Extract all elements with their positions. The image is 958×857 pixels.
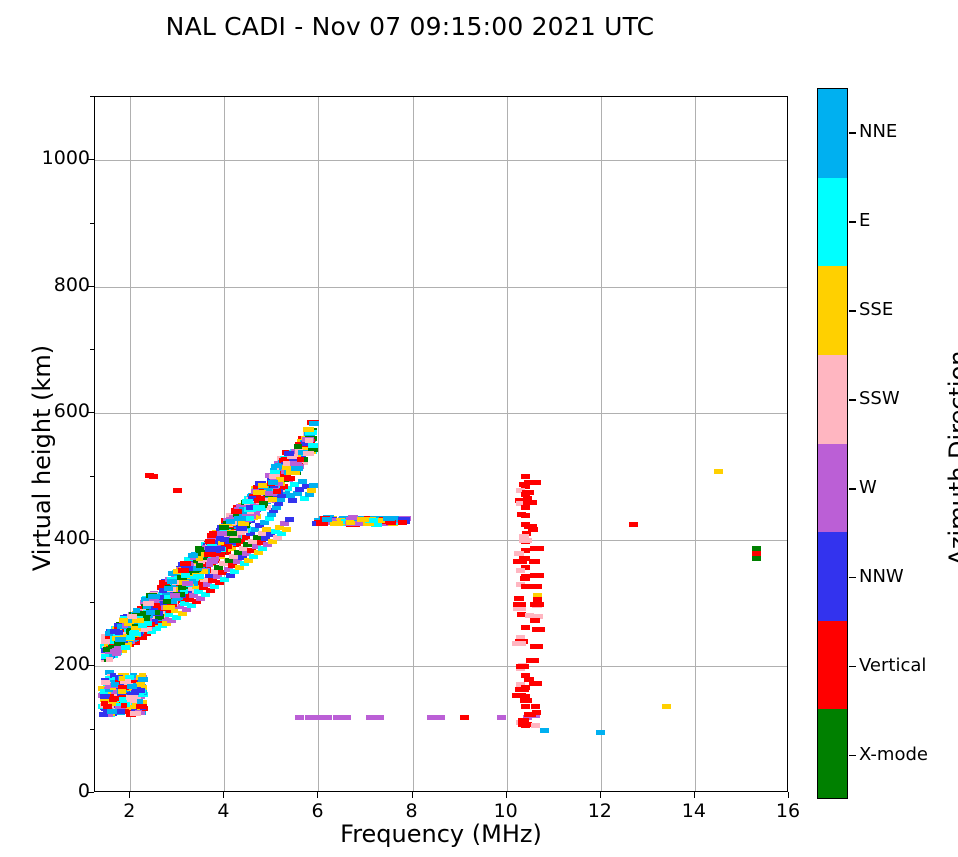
data-mark — [427, 715, 436, 720]
data-mark — [520, 576, 530, 581]
x-axis-tick-label: 10 — [476, 800, 536, 822]
data-mark — [253, 490, 264, 495]
data-mark — [126, 695, 136, 700]
data-mark — [514, 596, 524, 601]
data-mark — [130, 711, 141, 716]
x-axis-tick-label: 2 — [99, 800, 159, 822]
data-mark — [532, 627, 545, 632]
x-axis-tick-label: 16 — [758, 800, 818, 822]
colorbar-segment-vertical[interactable] — [818, 621, 847, 710]
data-mark — [149, 474, 158, 479]
data-mark — [309, 421, 319, 426]
data-mark — [148, 594, 160, 599]
data-mark — [288, 498, 297, 503]
data-mark — [516, 568, 525, 573]
colorbar-segment-ssw[interactable] — [818, 355, 847, 444]
data-mark — [163, 605, 175, 610]
data-mark — [204, 552, 216, 557]
data-mark — [460, 715, 469, 720]
data-mark — [524, 677, 534, 682]
data-mark — [524, 524, 537, 529]
data-mark — [530, 546, 544, 551]
data-mark — [268, 497, 277, 502]
data-mark — [119, 697, 126, 702]
colorbar[interactable] — [817, 88, 848, 799]
data-mark — [366, 715, 375, 720]
data-mark — [121, 645, 130, 650]
data-mark — [323, 715, 332, 720]
data-mark — [305, 438, 313, 443]
data-mark — [531, 704, 540, 709]
data-mark — [178, 585, 186, 590]
colorbar-label-sse: SSE — [859, 299, 893, 320]
x-axis-tick — [788, 792, 789, 798]
colorbar-tick — [849, 399, 856, 401]
data-mark — [291, 466, 303, 471]
data-mark — [375, 715, 384, 720]
data-mark — [294, 444, 302, 449]
data-mark — [236, 526, 247, 531]
data-mark — [752, 556, 761, 561]
colorbar-label-w: W — [859, 477, 877, 498]
gridline-horizontal — [95, 160, 787, 161]
data-mark — [213, 546, 225, 551]
data-mark — [173, 488, 182, 493]
data-mark — [101, 639, 110, 644]
colorbar-segment-e[interactable] — [818, 178, 847, 267]
data-mark — [519, 538, 532, 543]
colorbar-tick — [849, 666, 856, 668]
data-mark — [242, 499, 253, 504]
data-mark — [253, 505, 265, 510]
data-mark — [146, 610, 155, 615]
data-mark — [101, 701, 108, 706]
data-mark — [521, 474, 530, 479]
colorbar-segment-x-mode[interactable] — [818, 709, 847, 798]
gridline-horizontal — [95, 287, 787, 288]
data-mark — [121, 703, 127, 708]
data-mark — [273, 489, 281, 494]
data-mark — [530, 602, 544, 607]
colorbar-tick — [849, 577, 856, 579]
data-mark — [231, 509, 242, 514]
x-axis-tick — [412, 792, 413, 798]
data-mark — [528, 584, 542, 589]
data-mark — [285, 517, 294, 522]
data-mark — [284, 451, 294, 456]
data-mark — [136, 704, 147, 709]
data-mark — [540, 728, 549, 733]
data-mark — [193, 574, 204, 579]
colorbar-segment-sse[interactable] — [818, 266, 847, 355]
data-mark — [309, 483, 318, 488]
x-axis-tick-label: 14 — [664, 800, 724, 822]
colorbar-label-e: E — [859, 210, 870, 231]
data-mark — [357, 517, 369, 522]
data-mark — [196, 563, 203, 568]
data-mark — [138, 623, 147, 628]
data-mark — [178, 568, 189, 573]
gridline-horizontal — [95, 666, 787, 667]
data-mark — [305, 715, 314, 720]
data-mark — [342, 715, 351, 720]
data-mark — [107, 709, 117, 714]
gridline-horizontal — [95, 540, 787, 541]
data-mark — [512, 641, 526, 646]
gridline-vertical — [601, 97, 602, 791]
data-mark — [109, 697, 117, 702]
x-axis-tick — [506, 792, 507, 798]
plot-area — [94, 96, 788, 792]
data-mark — [229, 538, 241, 543]
data-mark — [130, 630, 139, 635]
data-mark — [303, 427, 314, 432]
data-mark — [227, 531, 237, 536]
data-mark — [216, 536, 224, 541]
x-axis-tick-label: 8 — [382, 800, 442, 822]
data-mark — [119, 618, 128, 623]
data-mark — [188, 553, 198, 558]
data-mark — [103, 647, 110, 652]
data-mark — [170, 593, 180, 598]
x-axis-tick — [129, 792, 130, 798]
data-mark — [330, 521, 343, 526]
data-mark — [138, 677, 148, 682]
data-mark — [314, 715, 323, 720]
data-mark — [529, 559, 540, 564]
data-mark — [520, 698, 532, 703]
data-mark — [629, 522, 638, 527]
data-mark — [383, 516, 395, 521]
data-mark — [163, 599, 171, 604]
colorbar-segment-w[interactable] — [818, 444, 847, 533]
data-mark — [530, 644, 543, 649]
data-mark — [256, 496, 265, 501]
x-axis-tick — [600, 792, 601, 798]
data-mark — [525, 613, 534, 618]
data-mark — [524, 712, 536, 717]
colorbar-segment-nne[interactable] — [818, 89, 847, 178]
data-mark — [307, 488, 316, 493]
data-mark — [526, 658, 539, 663]
data-mark — [181, 573, 190, 578]
data-mark — [497, 715, 506, 720]
data-mark — [316, 521, 328, 526]
data-mark — [519, 556, 529, 561]
data-mark — [517, 512, 526, 517]
data-mark — [322, 517, 332, 522]
y-axis-tick-label: 1000 — [0, 147, 90, 169]
data-mark — [308, 443, 318, 448]
data-mark — [205, 539, 215, 544]
data-mark — [284, 476, 295, 481]
data-mark — [127, 684, 137, 689]
y-axis-tick-label: 0 — [0, 780, 90, 802]
data-mark — [527, 480, 541, 485]
data-mark — [115, 637, 126, 642]
data-mark — [522, 490, 534, 495]
y-axis-tick-label: 800 — [0, 274, 90, 296]
data-mark — [295, 715, 304, 720]
y-axis-label: Virtual height (km) — [28, 298, 56, 618]
y-axis-minor-tick — [90, 729, 94, 730]
data-mark — [521, 505, 530, 510]
y-axis-minor-tick — [90, 349, 94, 350]
x-axis-tick — [223, 792, 224, 798]
data-mark — [268, 480, 278, 485]
data-mark — [137, 688, 145, 693]
data-mark — [530, 573, 544, 578]
colorbar-label-vertical: Vertical — [859, 655, 926, 676]
gridline-vertical — [318, 97, 319, 791]
gridline-vertical — [413, 97, 414, 791]
data-mark — [138, 692, 144, 697]
data-mark — [246, 516, 254, 521]
colorbar-title: Azimuth Direction — [944, 308, 958, 608]
data-mark — [297, 457, 304, 462]
x-axis-tick — [317, 792, 318, 798]
y-axis-minor-tick — [90, 476, 94, 477]
data-mark — [531, 723, 540, 728]
data-mark — [206, 562, 213, 567]
data-mark — [516, 664, 529, 669]
colorbar-label-x-mode: X-mode — [859, 744, 928, 765]
data-mark — [118, 689, 126, 694]
gridline-vertical — [695, 97, 696, 791]
x-axis-tick-label: 4 — [193, 800, 253, 822]
gridline-vertical — [224, 97, 225, 791]
gridline-horizontal — [95, 413, 787, 414]
data-mark — [282, 527, 291, 532]
data-mark — [164, 586, 173, 591]
data-mark — [596, 730, 605, 735]
data-mark — [143, 601, 154, 606]
ionogram-figure: NAL CADI - Nov 07 09:15:00 2021 UTC 2468… — [0, 0, 958, 857]
data-mark — [303, 451, 314, 456]
y-axis-tick-label: 200 — [0, 653, 90, 675]
data-mark — [436, 715, 445, 720]
colorbar-label-nnw: NNW — [859, 566, 904, 587]
colorbar-segment-nnw[interactable] — [818, 532, 847, 621]
colorbar-tick — [849, 310, 856, 312]
x-axis-tick-label: 12 — [570, 800, 630, 822]
x-axis-label: Frequency (MHz) — [94, 820, 788, 848]
colorbar-label-nne: NNE — [859, 121, 897, 142]
data-mark — [518, 722, 532, 727]
data-mark — [136, 682, 145, 687]
data-mark — [106, 657, 113, 662]
colorbar-tick — [849, 132, 856, 134]
data-mark — [398, 520, 407, 525]
data-mark — [333, 715, 342, 720]
data-mark — [515, 687, 529, 692]
data-mark — [530, 618, 540, 623]
data-mark — [512, 693, 526, 698]
y-axis-minor-tick — [90, 96, 94, 97]
colorbar-tick — [849, 221, 856, 223]
colorbar-tick — [849, 755, 856, 757]
data-mark — [662, 704, 671, 709]
data-mark — [129, 614, 137, 619]
data-mark — [205, 546, 213, 551]
data-mark — [523, 500, 537, 505]
data-mark — [167, 579, 177, 584]
data-mark — [714, 469, 723, 474]
colorbar-tick — [849, 488, 856, 490]
data-mark — [119, 676, 125, 681]
data-mark — [126, 635, 135, 640]
page-title: NAL CADI - Nov 07 09:15:00 2021 UTC — [0, 12, 820, 41]
y-axis-minor-tick — [90, 223, 94, 224]
x-axis-tick-label: 6 — [287, 800, 347, 822]
data-mark — [101, 680, 110, 685]
data-mark — [185, 581, 192, 586]
data-mark — [513, 602, 526, 607]
data-mark — [521, 625, 530, 630]
y-axis-minor-tick — [90, 602, 94, 603]
x-axis-tick — [694, 792, 695, 798]
gridline-vertical — [507, 97, 508, 791]
colorbar-label-ssw: SSW — [859, 388, 900, 409]
data-mark — [115, 630, 123, 635]
data-mark — [521, 704, 530, 709]
